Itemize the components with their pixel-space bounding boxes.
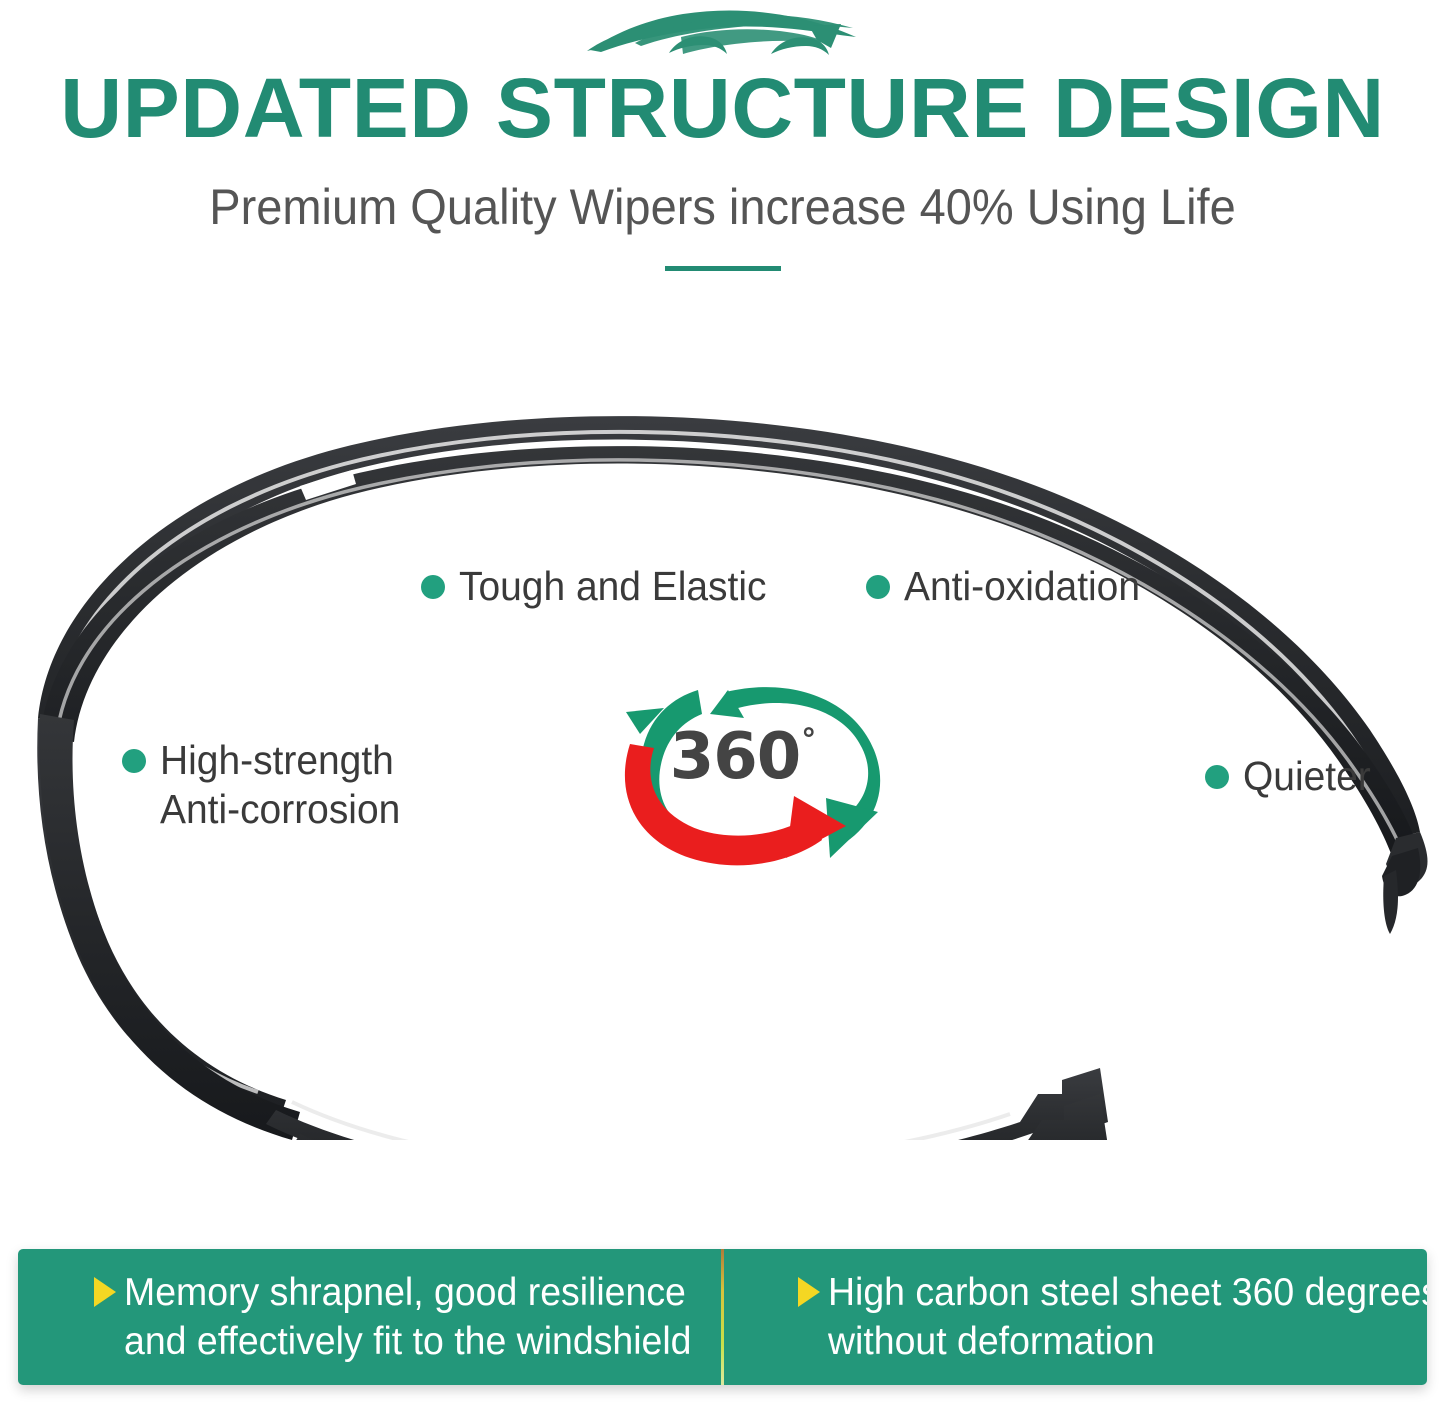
car-silhouette-icon [573,4,873,66]
triangle-bullet-icon [94,1277,116,1307]
banner-panel-right: High carbon steel sheet 360 degrees with… [722,1249,1427,1385]
banner-left-content: Memory shrapnel, good resilience and eff… [18,1268,725,1366]
feature-label: Anti-oxidation [904,562,1140,611]
page-subtitle: Premium Quality Wipers increase 40% Usin… [43,178,1401,236]
bullet-dot-icon [421,575,445,599]
bullet-dot-icon [122,749,146,773]
banner-right-content: High carbon steel sheet 360 degrees with… [722,1268,1427,1366]
feature-label: Tough and Elastic [459,562,766,611]
banner-right-line2: without deformation [828,1317,1427,1366]
feature-quieter: Quieter [1205,752,1377,801]
banner-left-line1: Memory shrapnel, good resilience [124,1268,691,1317]
feature-high-strength-anti-corrosion: High-strength Anti-corrosion [122,736,413,834]
bullet-dot-icon [1205,765,1229,789]
banner-right-line1: High carbon steel sheet 360 degrees [828,1268,1427,1317]
feature-anti-oxidation: Anti-oxidation [866,562,1152,611]
banner-left-text-block: Memory shrapnel, good resilience and eff… [124,1268,715,1366]
page-title: UPDATED STRUCTURE DESIGN [0,62,1445,154]
triangle-bullet-icon [798,1277,820,1307]
feature-label-line2: Anti-corrosion [160,785,400,834]
banner-right-text-block: High carbon steel sheet 360 degrees with… [828,1268,1427,1366]
feature-label-line1: High-strength [160,736,400,785]
header-section: UPDATED STRUCTURE DESIGN Premium Quality… [0,0,1445,300]
feature-label: Quieter [1243,752,1371,801]
title-divider-rule [665,266,781,271]
feature-label-block: High-strength Anti-corrosion [160,736,413,834]
bullet-dot-icon [866,575,890,599]
banner-panel-left: Memory shrapnel, good resilience and eff… [18,1249,722,1385]
feature-tough-and-elastic: Tough and Elastic [421,562,783,611]
feature-banner: Memory shrapnel, good resilience and eff… [18,1249,1427,1385]
360-degree-badge: 360° [578,652,918,874]
banner-left-line2: and effectively fit to the windshield [124,1317,691,1366]
rotation-arrows-icon [578,652,918,874]
product-infographic-page: UPDATED STRUCTURE DESIGN Premium Quality… [0,0,1445,1421]
